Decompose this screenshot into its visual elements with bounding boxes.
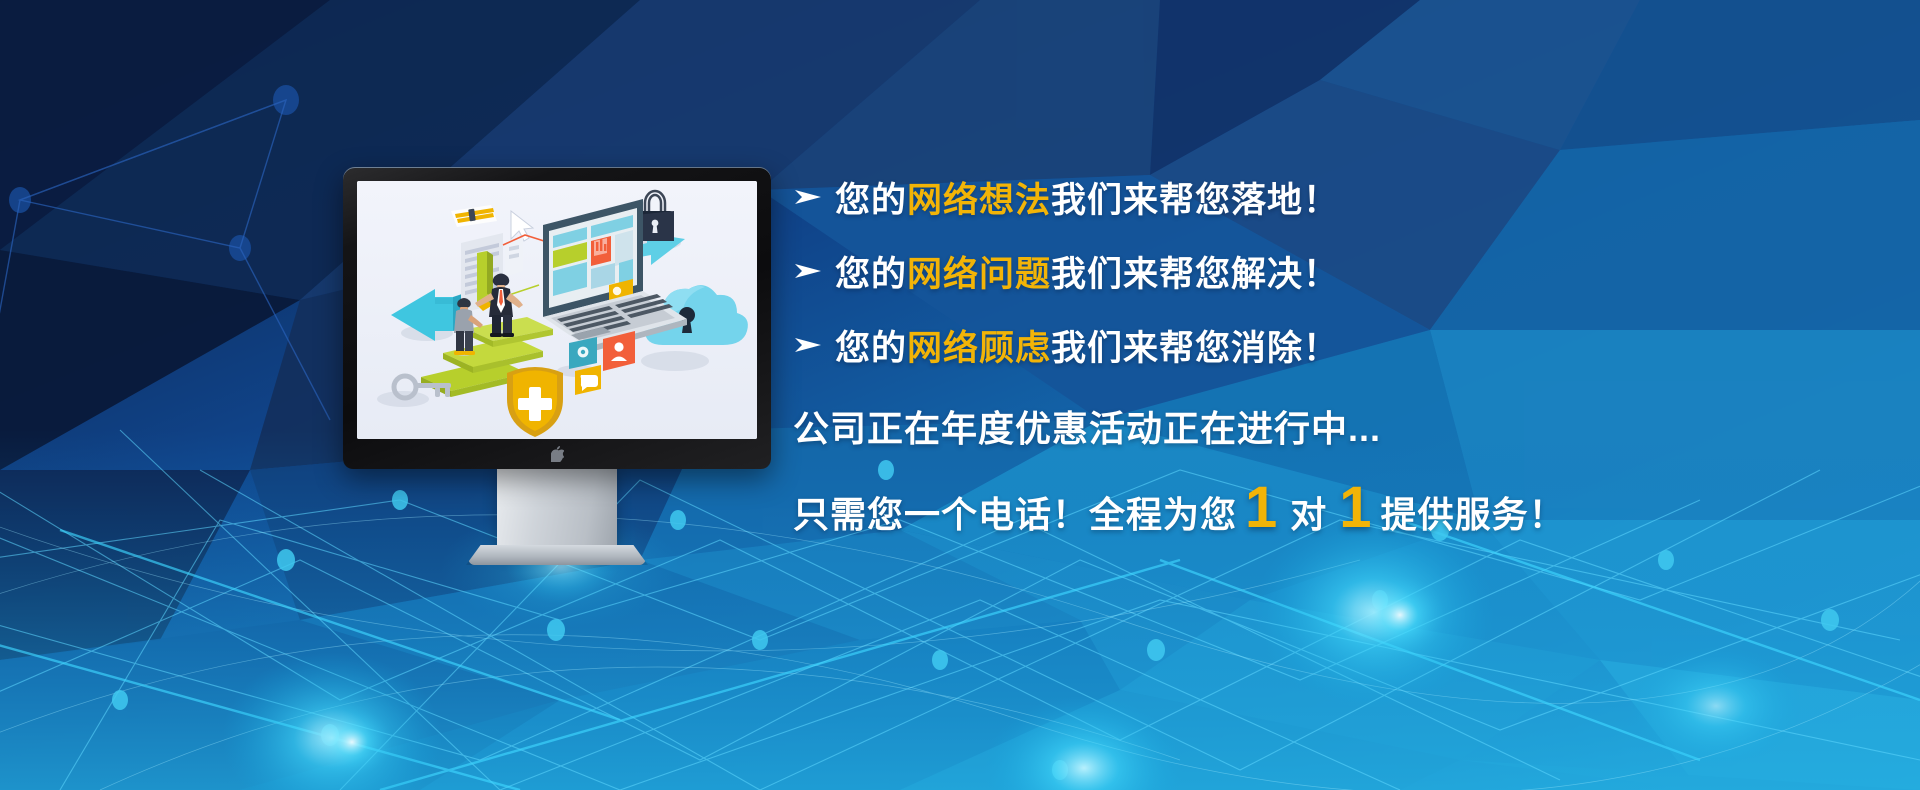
monitor-chin xyxy=(343,439,771,469)
callout-middle: 对 xyxy=(1286,486,1331,538)
marketing-copy-block: 您的网络想法我们来帮您落地！ 您的网络问题我们来帮您解决！ 您的网络顾虑我们来帮… xyxy=(793,160,1853,538)
bullet-1-prefix: 您的 xyxy=(835,181,907,220)
arrow-bullet-icon xyxy=(793,335,835,355)
monitor-stand-foot xyxy=(466,545,648,565)
bullet-text-1: 您的网络想法我们来帮您落地！ xyxy=(835,172,1339,223)
arrow-bullet-icon xyxy=(793,261,835,281)
monitor-screen xyxy=(357,181,757,439)
callout-tail: 提供服务！ xyxy=(1381,486,1566,538)
bullet-2-prefix: 您的 xyxy=(835,255,907,294)
bullet-line-1: 您的网络想法我们来帮您落地！ xyxy=(793,160,1853,234)
apple-logo-icon xyxy=(551,446,564,462)
monitor-graphic xyxy=(343,167,771,469)
promo-text: 公司正在年度优惠活动正在进行中... xyxy=(793,400,1853,452)
promo-banner: 您的网络想法我们来帮您落地！ 您的网络问题我们来帮您解决！ 您的网络顾虑我们来帮… xyxy=(0,0,1920,790)
bullet-line-3: 您的网络顾虑我们来帮您消除！ xyxy=(793,308,1853,382)
callout-lead: 只需您一个电话！全程为您 xyxy=(793,486,1237,538)
bullet-3-prefix: 您的 xyxy=(835,329,907,368)
callout-number-one-first: 1 xyxy=(1237,482,1286,534)
callout-number-one-second: 1 xyxy=(1331,482,1380,534)
arrow-bullet-icon xyxy=(793,187,835,207)
callout-line: 只需您一个电话！全程为您 1 对 1 提供服务！ xyxy=(793,482,1853,538)
monitor-bezel xyxy=(343,167,771,469)
bullet-3-suffix: 我们来帮您消除！ xyxy=(1051,329,1339,368)
bullet-text-3: 您的网络顾虑我们来帮您消除！ xyxy=(835,320,1339,371)
bullet-2-highlight: 网络问题 xyxy=(907,255,1051,294)
bullet-1-suffix: 我们来帮您落地！ xyxy=(1051,181,1339,220)
bullet-1-highlight: 网络想法 xyxy=(907,181,1051,220)
bullet-line-2: 您的网络问题我们来帮您解决！ xyxy=(793,234,1853,308)
bullet-text-2: 您的网络问题我们来帮您解决！ xyxy=(835,246,1339,297)
monitor-stand xyxy=(343,463,771,573)
monitor-stand-neck xyxy=(497,463,617,551)
bullet-2-suffix: 我们来帮您解决！ xyxy=(1051,255,1339,294)
bullet-3-highlight: 网络顾虑 xyxy=(907,329,1051,368)
isometric-network-security-illustration xyxy=(357,181,757,439)
